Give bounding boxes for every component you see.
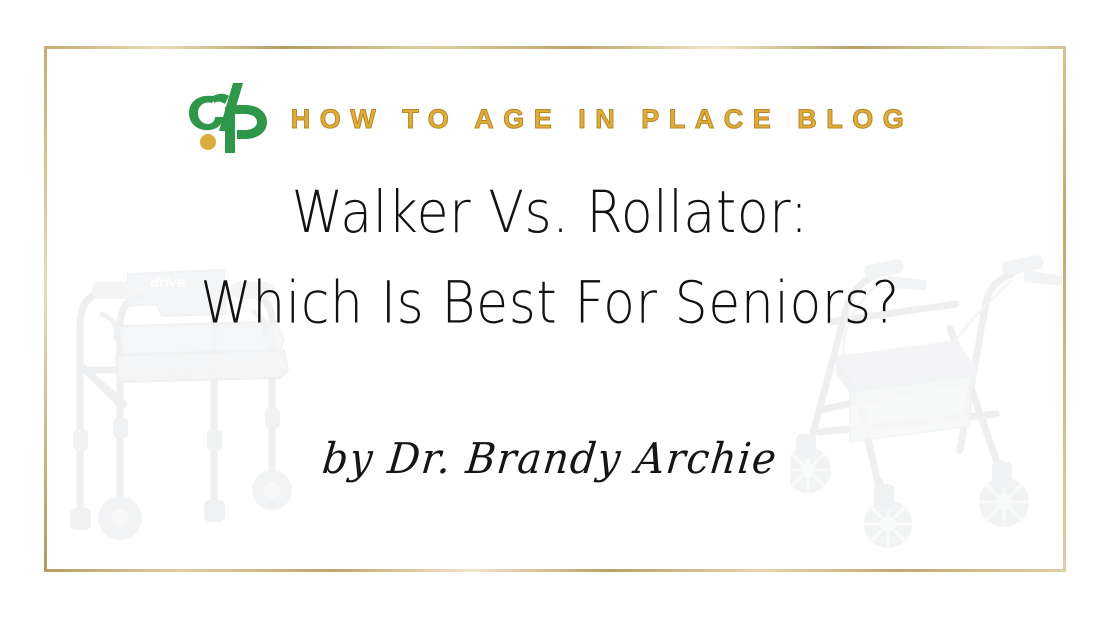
page-title-line-2: Which Is Best For Seniors? [0,258,1100,348]
logo-dot [200,134,216,150]
page-title: Walker Vs. Rollator: Which Is Best For S… [0,168,1100,349]
ap-monogram-logo [187,79,269,157]
title-card-canvas: drive [0,0,1100,620]
page-title-line-1: Walker Vs. Rollator: [0,168,1100,258]
author-byline: by Dr. Brandy Archie [0,435,1100,484]
masthead: HOW TO AGE IN PLACE BLOG [0,78,1100,158]
blog-kicker-text: HOW TO AGE IN PLACE BLOG [291,104,914,133]
